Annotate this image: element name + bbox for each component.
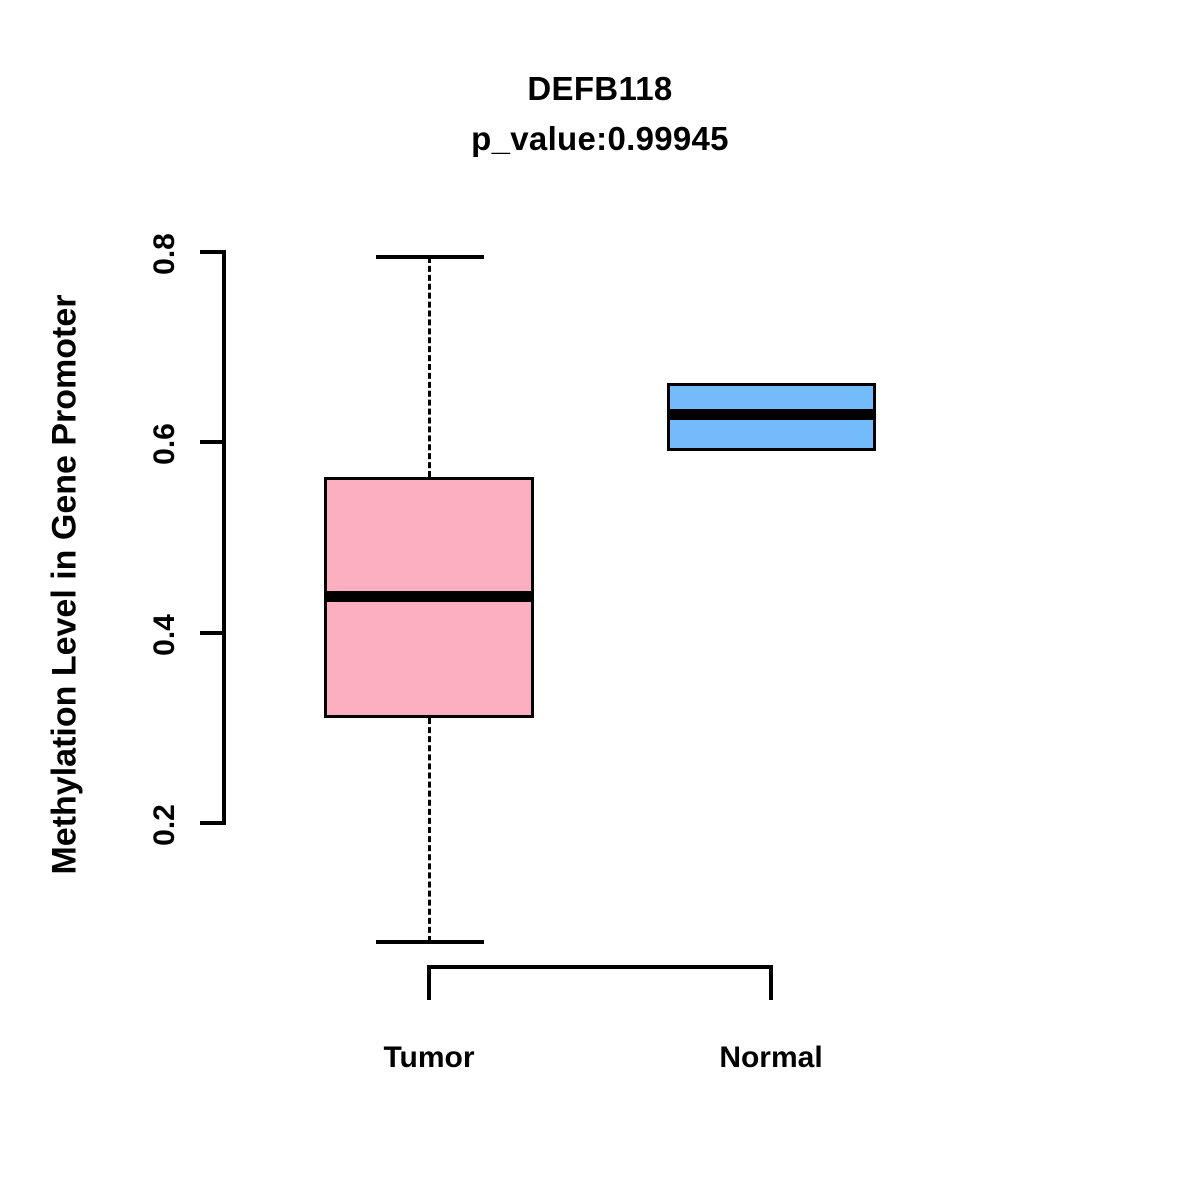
y-axis-tick-label-1: 0.6 (148, 404, 182, 484)
tumor-median-line (324, 591, 534, 602)
plot-subtitle-pvalue: p_value:0.99945 (0, 120, 1200, 158)
tumor-upper-whisker-cap (376, 255, 484, 259)
tumor-lower-whisker (428, 718, 431, 942)
y-axis-tick-0.2 (200, 821, 224, 825)
x-axis-line (427, 965, 773, 969)
y-axis-title: Methylation Level in Gene Promoter (46, 165, 85, 1005)
y-axis-tick-label-2: 0.4 (148, 595, 182, 675)
y-axis-tick-label-0: 0.8 (148, 214, 182, 294)
tumor-lower-whisker-cap (376, 940, 484, 944)
y-axis-tick-0.6 (200, 440, 224, 444)
x-axis-tick-tumor (427, 965, 431, 1000)
normal-median-line (667, 409, 876, 420)
boxplot-figure: DEFB118 p_value:0.99945 Methylation Leve… (0, 0, 1200, 1200)
y-axis-tick-label-3: 0.2 (148, 785, 182, 865)
x-axis-tick-normal (769, 965, 773, 1000)
x-axis-tick-label-normal: Normal (671, 1041, 871, 1075)
page-title: DEFB118 (0, 70, 1200, 108)
x-axis-tick-label-tumor: Tumor (329, 1041, 529, 1075)
tumor-upper-whisker (428, 257, 431, 477)
y-axis-tick-0.8 (200, 250, 224, 254)
y-axis-tick-0.4 (200, 631, 224, 635)
y-axis-line (222, 250, 226, 825)
